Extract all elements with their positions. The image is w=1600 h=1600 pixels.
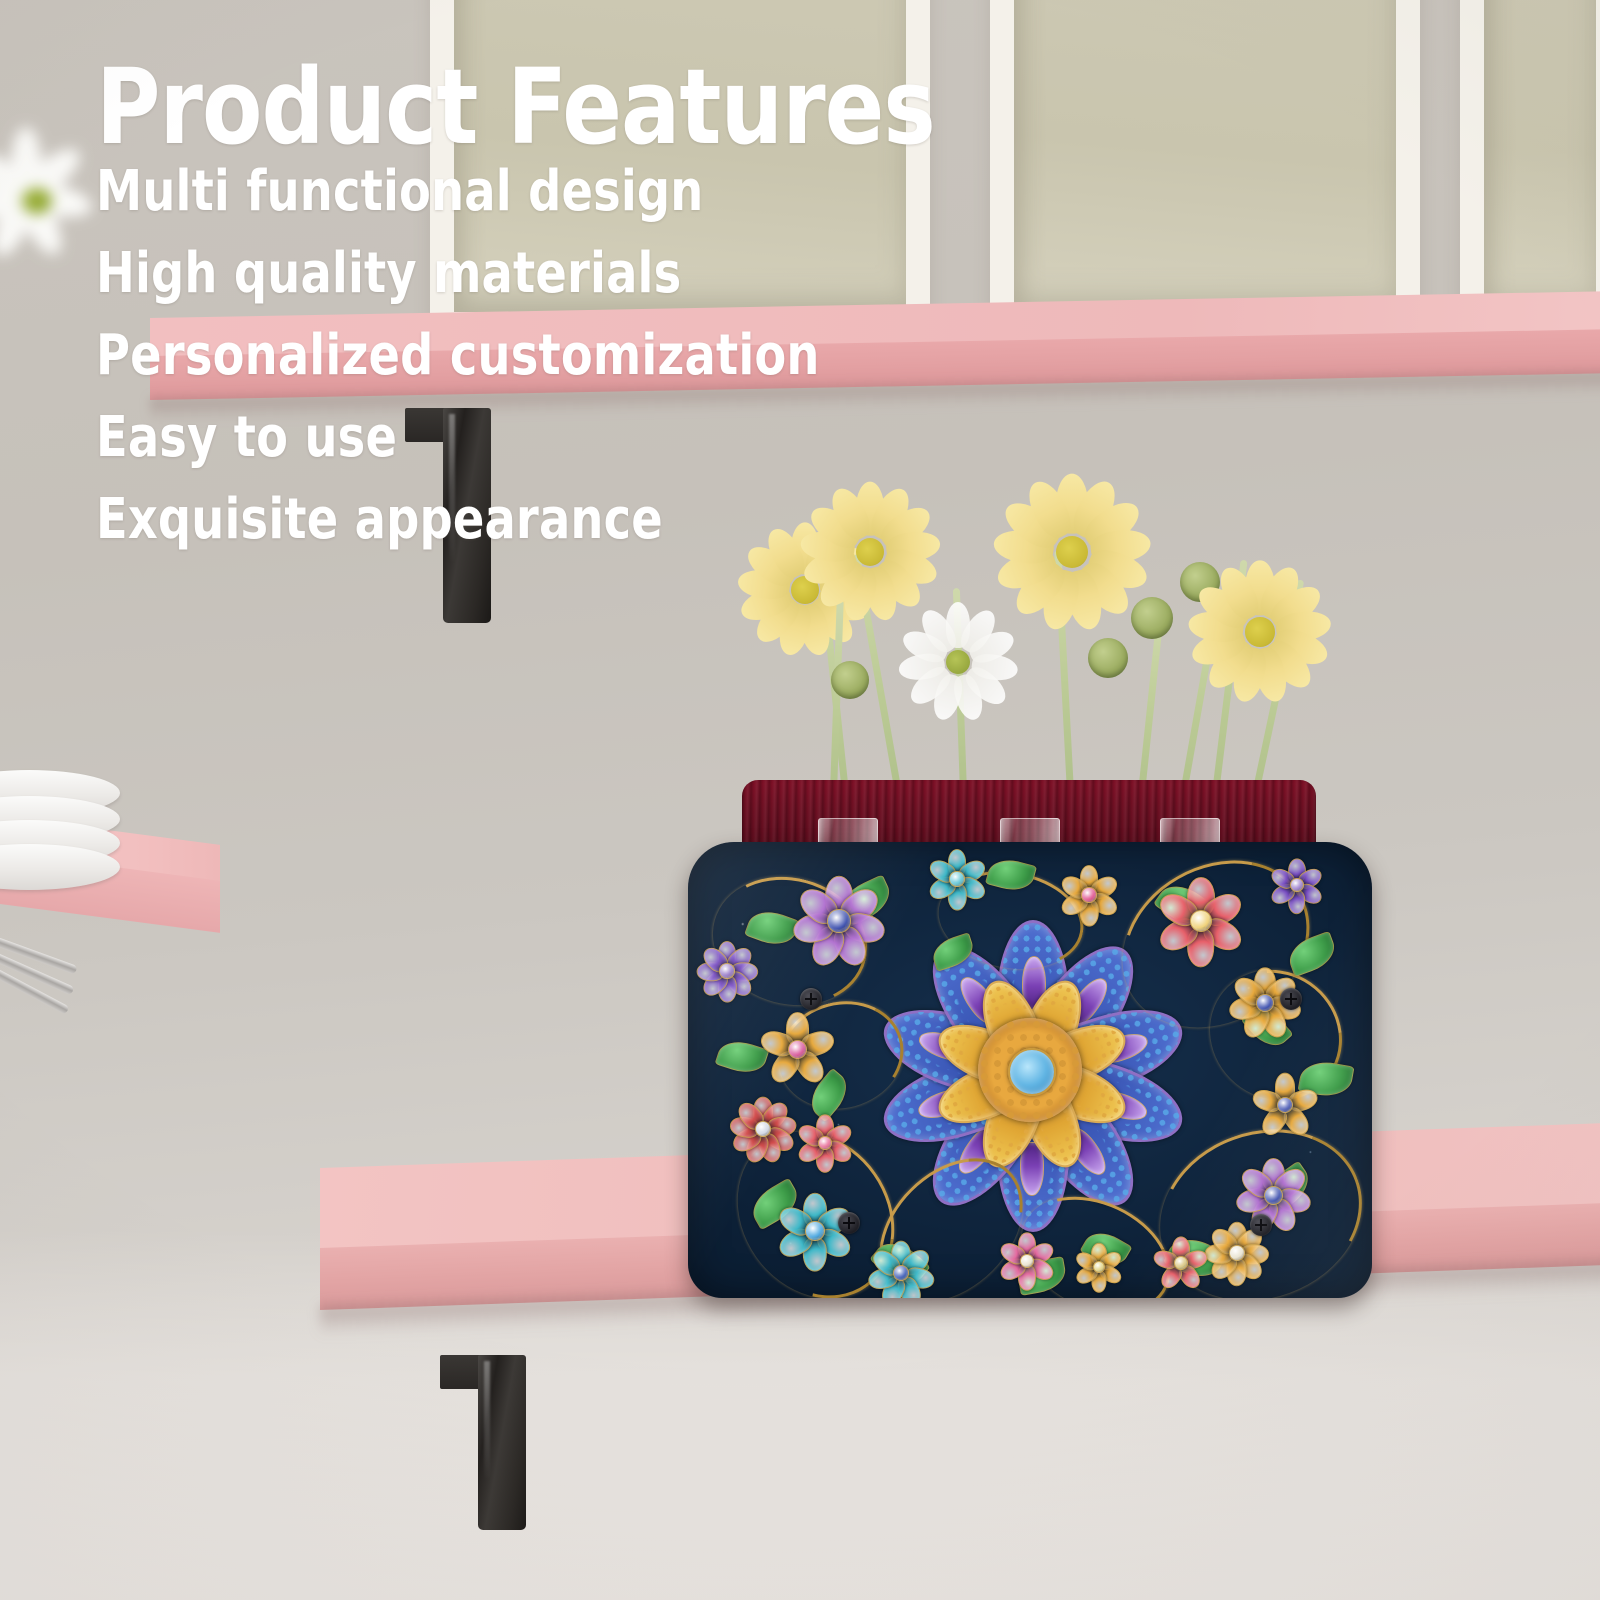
product-feature-banner: Product Features Multi functional design…: [0, 0, 1600, 1600]
scene-vignette: [0, 0, 1600, 1600]
